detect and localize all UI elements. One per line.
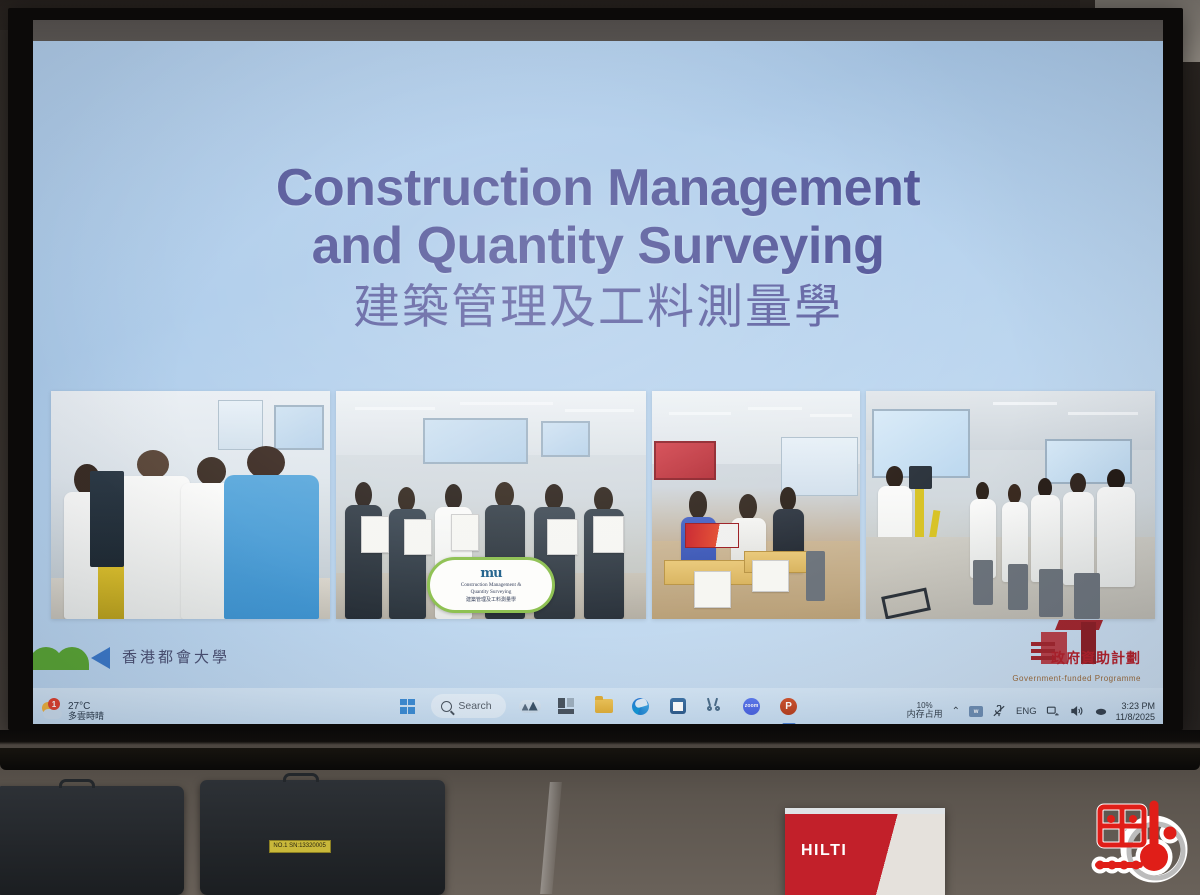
photo-surveying-demonstration [866, 391, 1155, 619]
language-indicator[interactable]: ENG [1016, 706, 1037, 717]
sign-english-text: Construction Management &Quantity Survey… [461, 582, 522, 595]
show-hidden-icons-chevron[interactable]: ⌃ [952, 706, 960, 717]
government-programme-english: Government-funded Programme [1012, 674, 1141, 683]
photo-students-with-total-station [51, 391, 330, 619]
hkmu-logo [33, 640, 115, 670]
equipment-case-left [0, 786, 184, 895]
microsoft-store-button[interactable] [665, 693, 691, 719]
volume-icon[interactable] [1070, 705, 1085, 718]
slide-title-chinese: 建築管理及工料測量學 [33, 279, 1163, 336]
microsoft-edge-button[interactable] [628, 693, 654, 719]
snipping-tool-icon [706, 698, 723, 714]
widgets-icon [519, 700, 541, 713]
desk-front-edge [0, 748, 1200, 770]
task-view-button[interactable] [554, 693, 580, 719]
slide-footer-right: 政府資助計劃 Government-funded Programme [1013, 620, 1141, 684]
zoom-icon-label: zoom [745, 703, 759, 709]
microphone-muted-icon[interactable] [992, 705, 1007, 718]
microsoft-edge-icon [632, 698, 649, 715]
powerpoint-icon: P [780, 698, 797, 715]
classroom-photo-scene: Construction Management and Quantity Sur… [0, 0, 1200, 895]
hilti-brand-label: HILTI [801, 842, 847, 860]
slide-title-block: Construction Management and Quantity Sur… [33, 159, 1163, 337]
programme-oval-sign: mu Construction Management &Quantity Sur… [427, 557, 555, 613]
slide-title-line1: Construction Management [33, 159, 1163, 217]
photo-students-with-flyers [652, 391, 860, 619]
search-input[interactable]: Search [431, 694, 505, 718]
powerpoint-icon-label: P [785, 701, 792, 712]
clock[interactable]: 3:23 PM 11/8/2025 [1116, 701, 1155, 722]
clock-time: 3:23 PM [1121, 701, 1155, 711]
case-handle [59, 779, 95, 788]
sign-chinese-text: 建築管理及工料測量學 [466, 596, 516, 603]
clock-date: 11/8/2025 [1116, 712, 1155, 722]
task-view-icon [558, 698, 575, 714]
snipping-tool-button[interactable] [702, 693, 728, 719]
system-tray: 10% 内存占用 ⌃ w ENG [907, 701, 1155, 722]
powerpoint-button[interactable]: P [776, 693, 802, 719]
start-button[interactable] [394, 693, 420, 719]
running-indicator [782, 723, 795, 725]
government-programme-chinese: 政府資助計劃 [1051, 648, 1141, 668]
equipment-case-right: NO.1 SN:13320005 [200, 780, 445, 895]
mu-wordmark: mu [480, 567, 501, 580]
powerpoint-slide: Construction Management and Quantity Sur… [33, 41, 1163, 688]
acrylic-stand [540, 782, 562, 894]
windows-taskbar: 1 27°C 多雲時晴 Search [33, 688, 1163, 724]
wechat-tray-icon[interactable]: w [969, 706, 983, 717]
projected-display: Construction Management and Quantity Sur… [33, 41, 1163, 724]
foreground-desk: NO.1 SN:13320005 HILTI [0, 730, 1200, 895]
widgets-button[interactable] [517, 693, 543, 719]
slide-photo-strip: mu Construction Management &Quantity Sur… [51, 391, 1149, 619]
memory-usage-indicator[interactable]: 10% 内存占用 [907, 702, 943, 721]
projector-screen-frame: Construction Management and Quantity Sur… [8, 8, 1183, 730]
zoom-icon: zoom [743, 698, 760, 715]
university-name-chinese: 香港都會大學 [122, 646, 230, 670]
search-icon [441, 701, 452, 712]
memory-usage-label: 内存占用 [907, 711, 943, 721]
windows-logo-icon [400, 699, 415, 714]
tray-extra-icon[interactable] [1094, 705, 1107, 718]
photo-classroom-group-with-placards: mu Construction Management &Quantity Sur… [336, 391, 646, 619]
slide-title-line2: and Quantity Surveying [33, 217, 1163, 275]
file-explorer-icon [595, 699, 613, 713]
file-explorer-button[interactable] [591, 693, 617, 719]
slide-footer-left: 香港都會大學 [33, 640, 230, 670]
microsoft-store-icon [670, 698, 686, 714]
red-robot-watermark [1082, 791, 1194, 891]
case-handle [283, 773, 319, 782]
hilti-product-box: HILTI [785, 808, 945, 895]
search-placeholder: Search [458, 700, 491, 712]
network-icon[interactable] [1046, 705, 1061, 718]
case-serial-tag: NO.1 SN:13320005 [269, 840, 331, 853]
zoom-app-button[interactable]: zoom [739, 693, 765, 719]
